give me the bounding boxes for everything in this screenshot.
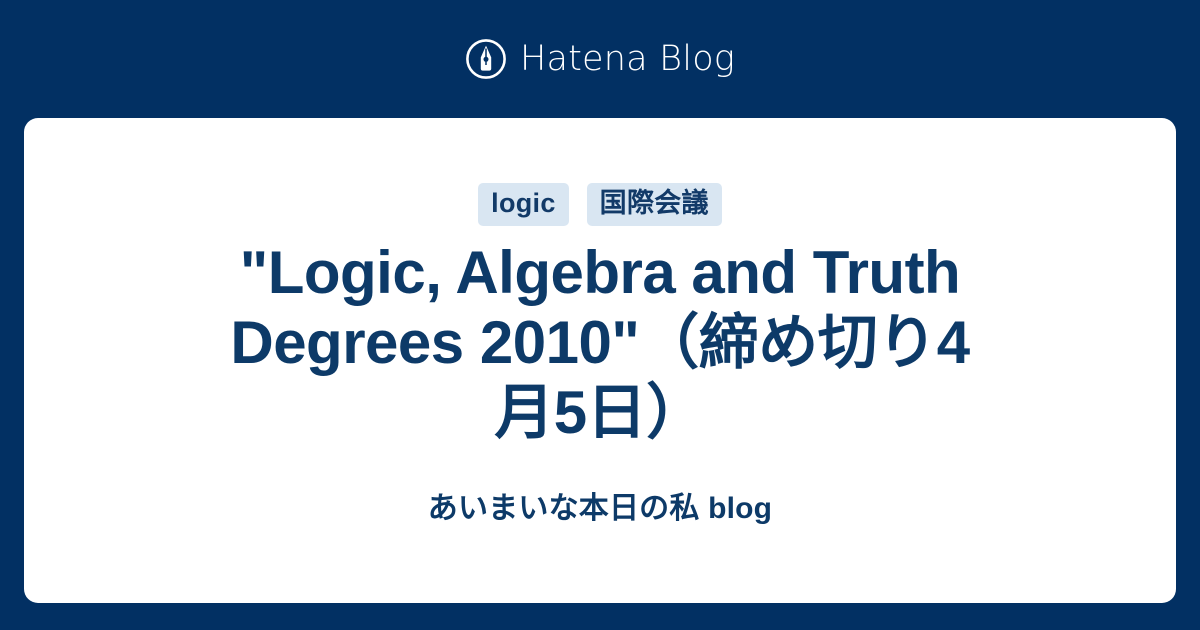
pen-nib-circle-icon: [465, 38, 507, 80]
entry-card: logic 国際会議 "Logic, Algebra and Truth Deg…: [24, 118, 1176, 603]
service-name-label: Hatena Blog: [520, 42, 735, 77]
site-header: Hatena Blog: [0, 0, 1200, 118]
tag-item-international-conference[interactable]: 国際会議: [587, 183, 722, 226]
tag-item-logic[interactable]: logic: [478, 183, 569, 226]
blog-name-label: あいまいな本日の私 blog: [428, 491, 772, 527]
tag-list: logic 国際会議: [478, 183, 722, 226]
entry-title: "Logic, Algebra and Truth Degrees 2010"（…: [220, 238, 980, 449]
